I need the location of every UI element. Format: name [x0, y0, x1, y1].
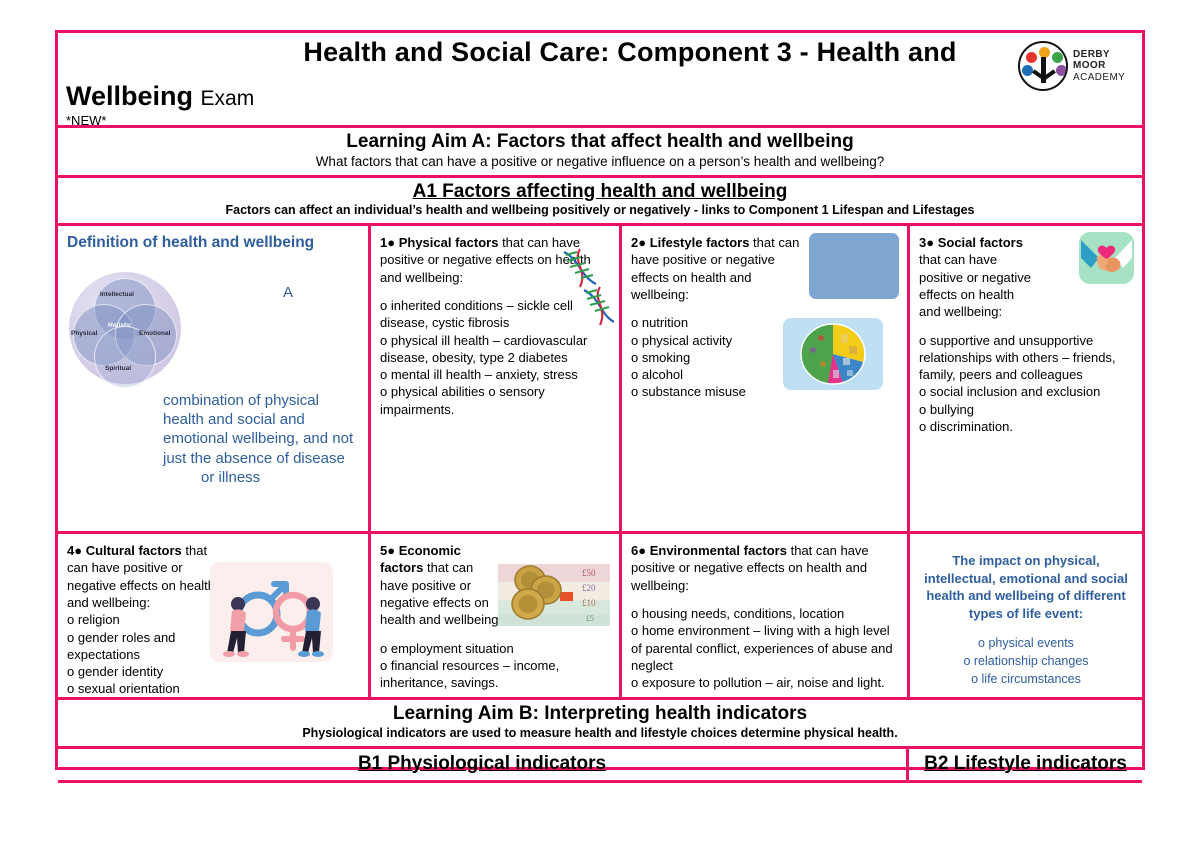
life-events-list: o physical events o relationship changes…: [919, 635, 1133, 688]
factor-cultural-item-0: o religion: [67, 611, 217, 628]
gender-symbols-icon: [210, 562, 333, 662]
factor-environmental-number: 6●: [631, 543, 646, 558]
venn-label-intellectual: Intellectual: [100, 291, 134, 298]
factor-cell-environmental: 6● Environmental factors that can have p…: [622, 534, 910, 697]
factor-social-item-1: o social inclusion and exclusion: [919, 383, 1133, 400]
dna-icon: [556, 248, 614, 330]
factor-cultural-item-3: o sexual orientation: [67, 680, 217, 697]
document-title-exam: Exam: [201, 87, 255, 110]
section-a1-subtitle: Factors can affect an individual’s healt…: [64, 203, 1136, 219]
life-events-item-0: o physical events: [919, 635, 1133, 653]
factor-physical-item-2: o mental ill health – anxiety, stress: [380, 366, 610, 383]
logo-line-2: ACADEMY: [1073, 72, 1136, 84]
factor-social-item-0: o supportive and unsupportive relationsh…: [919, 332, 1133, 384]
document-title-wellbeing: Wellbeing: [66, 81, 193, 111]
factor-cell-social: 3● Social factors that can have positive…: [910, 226, 1142, 531]
factor-cell-cultural: 4● Cultural factors that can have positi…: [58, 534, 371, 697]
section-a1-band: A1 Factors affecting health and wellbein…: [58, 178, 1142, 226]
venn-label-emotional: Emotional: [139, 330, 170, 337]
learning-aim-a-title: Learning Aim A: Factors that affect heal…: [64, 131, 1136, 154]
factor-cultural-number: 4●: [67, 543, 82, 558]
new-tag: *NEW*: [66, 113, 106, 128]
definition-heading: Definition of health and wellbeing: [67, 234, 359, 252]
venn-label-holistic: Holistic: [108, 322, 131, 329]
money-icon: £50 £20 £10 £5: [498, 564, 610, 626]
svg-text:£5: £5: [586, 614, 594, 623]
b1-cell: B1 Physiological indicators: [58, 749, 909, 780]
factor-cell-physical: 1● Physical factors that can have positi…: [371, 226, 622, 531]
definition-cell: Definition of health and wellbeing Intel…: [58, 226, 371, 531]
eatwell-plate-icon: [783, 318, 883, 390]
holistic-health-venn-diagram-icon: Intellectual Physical Emotional Spiritua…: [63, 268, 186, 393]
learning-aim-b-title: Learning Aim B: Interpreting health indi…: [64, 703, 1136, 726]
knowledge-organiser-table: Health and Social Care: Component 3 - He…: [55, 30, 1145, 770]
factor-cultural-item-2: o gender identity: [67, 663, 217, 680]
svg-text:£10: £10: [582, 598, 596, 608]
venn-label-physical: Physical: [71, 330, 97, 337]
learning-aim-a-subtitle: What factors that can have a positive or…: [64, 154, 1136, 171]
venn-label-spiritual: Spiritual: [105, 365, 131, 372]
svg-text:£20: £20: [582, 583, 596, 593]
factor-social-intro-text: that can have positive or negative effec…: [919, 252, 1031, 319]
blue-placeholder-block: [809, 233, 899, 299]
factor-environmental-name: Environmental factors: [650, 543, 787, 558]
factor-environmental-item-0: o housing needs, conditions, location: [631, 605, 898, 622]
factor-physical-item-1: o physical ill health – cardiovascular d…: [380, 332, 610, 367]
document-title-line2: Wellbeing Exam: [66, 81, 254, 112]
learning-aim-b-subtitle: Physiological indicators are used to mea…: [64, 726, 1136, 742]
definition-body-indent: or illness: [163, 468, 363, 487]
life-events-heading: The impact on physical, intellectual, em…: [919, 552, 1133, 622]
factor-social-item-2: o bullying: [919, 401, 1133, 418]
factor-cell-economic: 5● Economic factors that can have positi…: [371, 534, 622, 697]
holding-hands-heart-icon: [1079, 232, 1134, 284]
logo-mark-icon: [1018, 41, 1068, 91]
factor-cell-lifestyle: 2● Lifestyle factors that can have posit…: [622, 226, 910, 531]
factor-social-name: Social factors: [938, 235, 1023, 250]
factor-social-item-3: o discrimination.: [919, 418, 1133, 435]
section-a1-title: A1 Factors affecting health and wellbein…: [64, 181, 1136, 204]
factor-economic-item-1: o financial resources – income, inherita…: [380, 657, 610, 692]
learning-aim-b-band: Learning Aim B: Interpreting health indi…: [58, 700, 1142, 748]
b1-title: B1 Physiological indicators: [64, 753, 900, 775]
title-band: Health and Social Care: Component 3 - He…: [58, 33, 1142, 128]
svg-text:£50: £50: [582, 568, 596, 578]
definition-body-text: combination of physical health and socia…: [163, 392, 353, 467]
b2-cell: B2 Lifestyle indicators: [909, 749, 1142, 780]
factor-environmental-intro: 6● Environmental factors that can have p…: [631, 542, 898, 594]
factor-economic-number: 5●: [380, 543, 395, 558]
factor-cultural-name: Cultural factors: [86, 543, 182, 558]
factor-lifestyle-number: 2●: [631, 235, 646, 250]
life-events-item-2: o life circumstances: [919, 671, 1133, 689]
life-events-cell: The impact on physical, intellectual, em…: [910, 534, 1142, 697]
factor-social-intro: 3● Social factors that can have positive…: [919, 234, 1039, 320]
factor-environmental-item-1: o home environment – living with a high …: [631, 622, 898, 674]
life-events-item-1: o relationship changes: [919, 653, 1133, 671]
derby-moor-academy-logo: DERBY MOOR ACADEMY: [1018, 38, 1136, 94]
factor-economic-intro: 5● Economic factors that can have positi…: [380, 542, 505, 628]
factor-economic-item-0: o employment situation: [380, 640, 610, 657]
indicators-band: B1 Physiological indicators B2 Lifestyle…: [58, 749, 1142, 783]
factor-physical-item-3: o physical abilities o sensory impairmen…: [380, 383, 610, 418]
factors-row-top: Definition of health and wellbeing Intel…: [58, 226, 1142, 534]
factor-lifestyle-intro: 2● Lifestyle factors that can have posit…: [631, 234, 801, 303]
factor-physical-number: 1●: [380, 235, 395, 250]
logo-line-1: DERBY MOOR: [1073, 49, 1136, 72]
factors-row-bottom: 4● Cultural factors that can have positi…: [58, 534, 1142, 700]
factor-cultural-intro: 4● Cultural factors that can have positi…: [67, 542, 217, 611]
document-title-line1: Health and Social Care: Component 3 - He…: [66, 37, 1134, 68]
b2-title: B2 Lifestyle indicators: [915, 753, 1136, 775]
definition-letter-a: A: [283, 284, 293, 301]
poster-page: Health and Social Care: Component 3 - He…: [0, 0, 1200, 849]
factor-social-number: 3●: [919, 235, 934, 250]
factor-environmental-item-2: o exposure to pollution – air, noise and…: [631, 674, 898, 691]
learning-aim-a-band: Learning Aim A: Factors that affect heal…: [58, 128, 1142, 178]
factor-physical-name: Physical factors: [399, 235, 499, 250]
definition-body: combination of physical health and socia…: [163, 391, 363, 487]
logo-wordmark: DERBY MOOR ACADEMY: [1073, 49, 1136, 84]
factor-cultural-item-1: o gender roles and expectations: [67, 629, 217, 664]
factor-lifestyle-name: Lifestyle factors: [650, 235, 750, 250]
